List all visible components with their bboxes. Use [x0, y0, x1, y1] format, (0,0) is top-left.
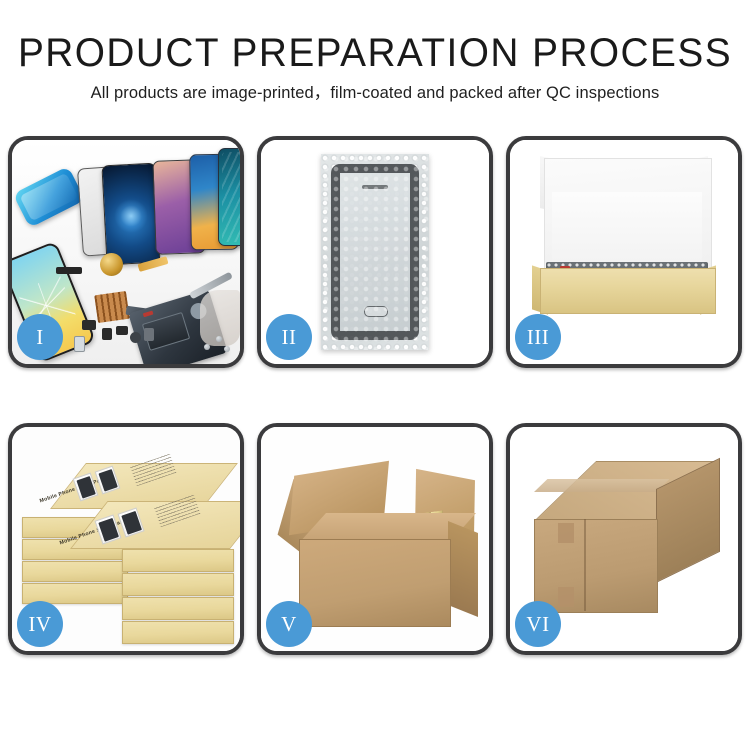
- page-subtitle: All products are image-printed，film-coat…: [0, 83, 750, 103]
- stacked-box-edge: [122, 621, 234, 644]
- battery-connector-strip: [56, 267, 82, 274]
- step-badge-1: I: [17, 314, 63, 360]
- bubble-texture-overlay: [321, 154, 429, 350]
- product-preparation-infographic: PRODUCT PREPARATION PROCESS All products…: [0, 0, 750, 750]
- carton-front-panel: [534, 519, 658, 613]
- step-badge-2: II: [266, 314, 312, 360]
- step-badge-4: IV: [17, 601, 63, 647]
- foam-liner: [552, 192, 702, 270]
- step-badge-5: V: [266, 601, 312, 647]
- process-step-grid: I II: [8, 136, 742, 688]
- process-step-3: III: [506, 136, 742, 368]
- sim-tray: [74, 336, 85, 352]
- screw-b: [204, 344, 210, 350]
- process-step-4: Mobile Phone Spare Parts Mobile Phone Sp…: [8, 423, 244, 655]
- step-badge-3: III: [515, 314, 561, 360]
- process-step-5: V: [257, 423, 493, 655]
- red-label-mark: [143, 311, 154, 318]
- stacked-box-edge: [122, 549, 234, 572]
- screw-c: [224, 346, 230, 352]
- step-badge-6: VI: [515, 601, 561, 647]
- small-part-a: [82, 320, 96, 330]
- carton-front-panel: [299, 539, 451, 627]
- speaker-module: [100, 253, 123, 276]
- packing-tape: [534, 479, 669, 492]
- process-step-6: VI: [506, 423, 742, 655]
- bubble-wrap-sheet: [321, 154, 429, 350]
- stacked-box-edge: [22, 561, 128, 582]
- carton-side-panel: [448, 521, 478, 617]
- process-step-1: I: [8, 136, 244, 368]
- process-step-2: II: [257, 136, 493, 368]
- stacked-box-edge: [122, 597, 234, 620]
- phone-screen-teal: [218, 148, 240, 246]
- carton-tab-upper: [558, 523, 574, 543]
- copper-chip-grid: [94, 291, 130, 323]
- small-part-c: [116, 326, 128, 335]
- kraft-box-base: [540, 268, 716, 314]
- page-title: PRODUCT PREPARATION PROCESS: [11, 30, 739, 76]
- vibration-motor: [144, 328, 154, 341]
- small-part-b: [102, 328, 112, 340]
- carton-seam: [584, 519, 586, 611]
- camera-module: [130, 332, 141, 343]
- header: PRODUCT PREPARATION PROCESS All products…: [0, 0, 750, 103]
- stacked-box-edge: [122, 573, 234, 596]
- screw-a: [216, 336, 222, 342]
- phone-screen-dark-blue: [101, 163, 160, 266]
- carton-tab-lower: [558, 587, 574, 607]
